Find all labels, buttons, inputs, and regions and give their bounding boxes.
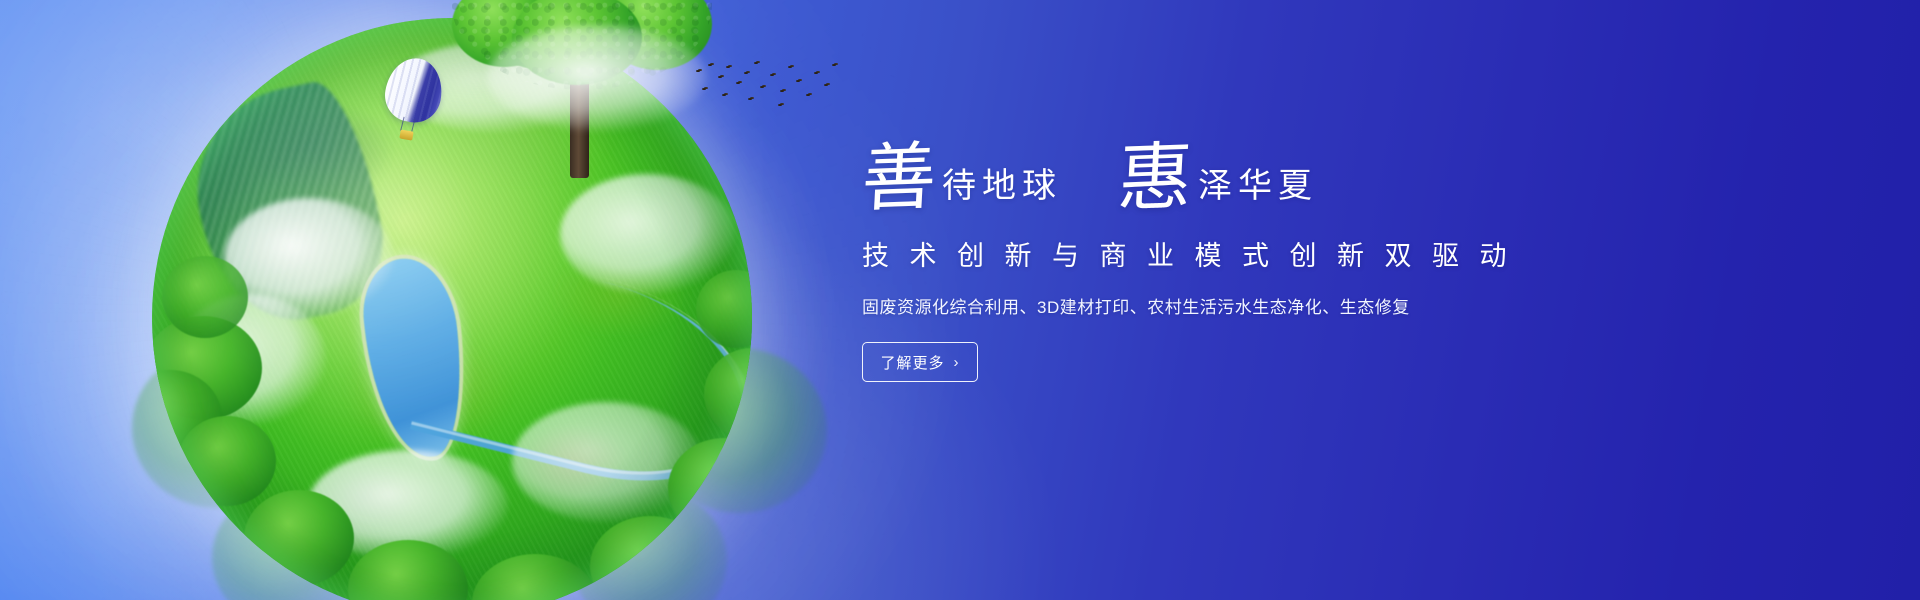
hero-content: 善 待地球 惠 泽华夏 技 术 创 新 与 商 业 模 式 创 新 双 驱 动 … — [862, 126, 1642, 382]
cloud-icon — [176, 294, 326, 424]
large-tree-icon — [452, 0, 712, 180]
tree-canopy — [452, 0, 557, 67]
globe-atmosphere-glow — [100, 0, 804, 600]
tree-icon — [590, 516, 710, 600]
tree-icon — [162, 256, 248, 338]
tree-icon — [152, 370, 222, 466]
tree-icon — [696, 270, 752, 348]
leaf-texture — [452, 0, 712, 90]
tree-canopy — [547, 0, 702, 58]
tree-icon — [668, 438, 752, 538]
headline-phrase-2: 惠 泽华夏 — [1118, 144, 1318, 212]
grass-texture — [152, 18, 752, 600]
globe-rim-glow — [152, 18, 752, 600]
balloon-basket — [399, 130, 413, 141]
globe-sphere — [152, 18, 752, 600]
flying-birds-icon — [692, 60, 842, 112]
tree-icon — [704, 348, 752, 440]
globe-curvature-shading — [152, 18, 752, 600]
hero-subtitle: 技 术 创 新 与 商 业 模 式 创 新 双 驱 动 — [862, 234, 1642, 273]
cloud-icon — [560, 174, 735, 294]
tree-icon — [472, 554, 598, 600]
background-tree-icon — [572, 488, 727, 600]
tree-icon — [152, 316, 262, 420]
hero-description: 固废资源化综合利用、3D建材打印、农村生活污水生态净化、生态修复 — [862, 293, 1642, 318]
learn-more-button[interactable]: 了解更多 › — [862, 342, 978, 382]
background-tree-icon — [652, 348, 827, 513]
headline-text-small-2: 泽华夏 — [1198, 169, 1318, 203]
tree-trunk — [570, 50, 589, 178]
balloon-ropes — [400, 117, 415, 133]
hot-air-balloon-icon — [377, 54, 447, 148]
balloon-envelope — [381, 54, 447, 127]
tree-icon — [178, 416, 276, 506]
cloud-icon — [308, 450, 508, 560]
mist-icon — [487, 25, 707, 130]
page-title: 善 待地球 惠 泽华夏 — [862, 126, 1642, 212]
tree-canopy — [602, 0, 712, 70]
grass-texture-fine — [152, 18, 752, 600]
headline-char-large-2: 惠 — [1116, 143, 1194, 214]
tree-icon — [244, 490, 354, 586]
learn-more-label: 了解更多 — [880, 352, 944, 373]
background-tree-icon — [212, 488, 362, 600]
lake-icon — [358, 254, 470, 463]
tree-icon — [348, 540, 468, 600]
hero-banner: 善 待地球 惠 泽华夏 技 术 创 新 与 商 业 模 式 创 新 双 驱 动 … — [0, 0, 1920, 600]
cloud-icon — [392, 42, 602, 132]
headline-phrase-1: 善 待地球 — [862, 144, 1062, 212]
cloud-icon — [224, 198, 394, 318]
tree-canopy — [512, 0, 642, 85]
background-tree-icon — [132, 348, 302, 508]
cloud-swirl-inner — [0, 0, 850, 600]
chevron-right-icon: › — [954, 355, 960, 370]
headline-text-small-1: 待地球 — [942, 169, 1062, 203]
tree-canopy — [470, 0, 620, 70]
mountain-range-icon — [178, 74, 397, 335]
green-planet-illustration — [152, 18, 752, 600]
river-icon — [410, 245, 752, 509]
headline-char-large-1: 善 — [860, 143, 938, 214]
cloud-icon — [512, 402, 702, 522]
globe-highlight — [152, 18, 752, 600]
cloud-swirl-outer — [0, 0, 980, 600]
